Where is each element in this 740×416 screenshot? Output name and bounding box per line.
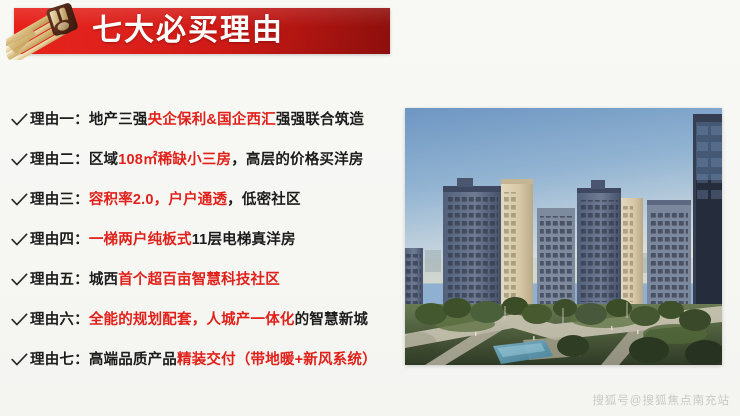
gold-scroll-ornament xyxy=(6,2,94,60)
check-icon xyxy=(0,193,30,207)
reason-seg: 高端品质产品 xyxy=(89,352,177,368)
list-item: 理由七：高端品质产品精装交付（带地暖+新风系统） xyxy=(0,340,400,380)
reason-text: 理由五：城西首个超百亩智慧科技社区 xyxy=(30,273,280,288)
reason-seg: 11层电梯真洋房 xyxy=(192,232,296,248)
list-item: 理由六：全能的规划配套，人城产一体化的智慧新城 xyxy=(0,300,400,340)
property-rendering-image xyxy=(405,108,722,365)
reason-label: 理由五： xyxy=(30,272,89,288)
reason-seg: 地产三强 xyxy=(89,112,148,128)
reason-label: 理由一： xyxy=(30,112,89,128)
check-icon xyxy=(0,153,30,167)
list-item: 理由一：地产三强央企保利&国企西汇强强联合筑造 xyxy=(0,100,400,140)
check-icon xyxy=(0,113,30,127)
check-icon xyxy=(0,233,30,247)
reason-label: 理由二： xyxy=(30,152,89,168)
reason-seg-highlight: 一梯两户纯板式 xyxy=(89,232,192,248)
reason-text: 理由三：容积率2.0，户户通透，低密社区 xyxy=(30,193,301,208)
reason-label: 理由六： xyxy=(30,312,89,328)
list-item: 理由四：一梯两户纯板式11层电梯真洋房 xyxy=(0,220,400,260)
reason-text: 理由四：一梯两户纯板式11层电梯真洋房 xyxy=(30,233,296,248)
reason-seg: 区域 xyxy=(89,152,118,168)
reason-seg-highlight: 全能的规划配套，人城产一体化 xyxy=(89,312,295,328)
slide-canvas: 七大必买理由 理由一：地产三强央企保利&国企西汇强强联合筑造 理由二：区域108 xyxy=(0,0,740,416)
page-title: 七大必买理由 xyxy=(92,10,284,52)
reason-seg-highlight: 精装交付（带地暖+新风系统） xyxy=(177,352,377,368)
reason-seg: 强强联合筑造 xyxy=(276,112,364,128)
reason-text: 理由七：高端品质产品精装交付（带地暖+新风系统） xyxy=(30,353,377,368)
reason-seg-highlight: 容积率2.0，户户通透 xyxy=(89,192,227,208)
reason-seg: ，高层的价格买洋房 xyxy=(231,152,363,168)
reason-text: 理由一：地产三强央企保利&国企西汇强强联合筑造 xyxy=(30,113,364,128)
reason-seg-highlight: 首个超百亩智慧科技社区 xyxy=(118,272,280,288)
reason-label: 理由三： xyxy=(30,192,89,208)
list-item: 理由二：区域108㎡稀缺小三房，高层的价格买洋房 xyxy=(0,140,400,180)
list-item: 理由三：容积率2.0，户户通透，低密社区 xyxy=(0,180,400,220)
watermark-text: 搜狐号@搜狐焦点南充站 xyxy=(592,392,730,408)
check-icon xyxy=(0,313,30,327)
check-icon xyxy=(0,273,30,287)
header-banner: 七大必买理由 xyxy=(0,4,392,58)
reason-seg-highlight: 央企保利&国企西汇 xyxy=(148,112,276,128)
check-icon xyxy=(0,353,30,367)
reason-seg: ，低密社区 xyxy=(227,192,301,208)
reason-label: 理由七： xyxy=(30,352,89,368)
reason-seg: 的智慧新城 xyxy=(295,312,369,328)
reason-text: 理由二：区域108㎡稀缺小三房，高层的价格买洋房 xyxy=(30,153,364,168)
reason-label: 理由四： xyxy=(30,232,89,248)
reason-seg: 城西 xyxy=(89,272,118,288)
reason-list: 理由一：地产三强央企保利&国企西汇强强联合筑造 理由二：区域108㎡稀缺小三房，… xyxy=(0,100,400,380)
reason-seg-highlight: 108㎡稀缺小三房 xyxy=(118,152,231,168)
list-item: 理由五：城西首个超百亩智慧科技社区 xyxy=(0,260,400,300)
reason-text: 理由六：全能的规划配套，人城产一体化的智慧新城 xyxy=(30,313,368,328)
